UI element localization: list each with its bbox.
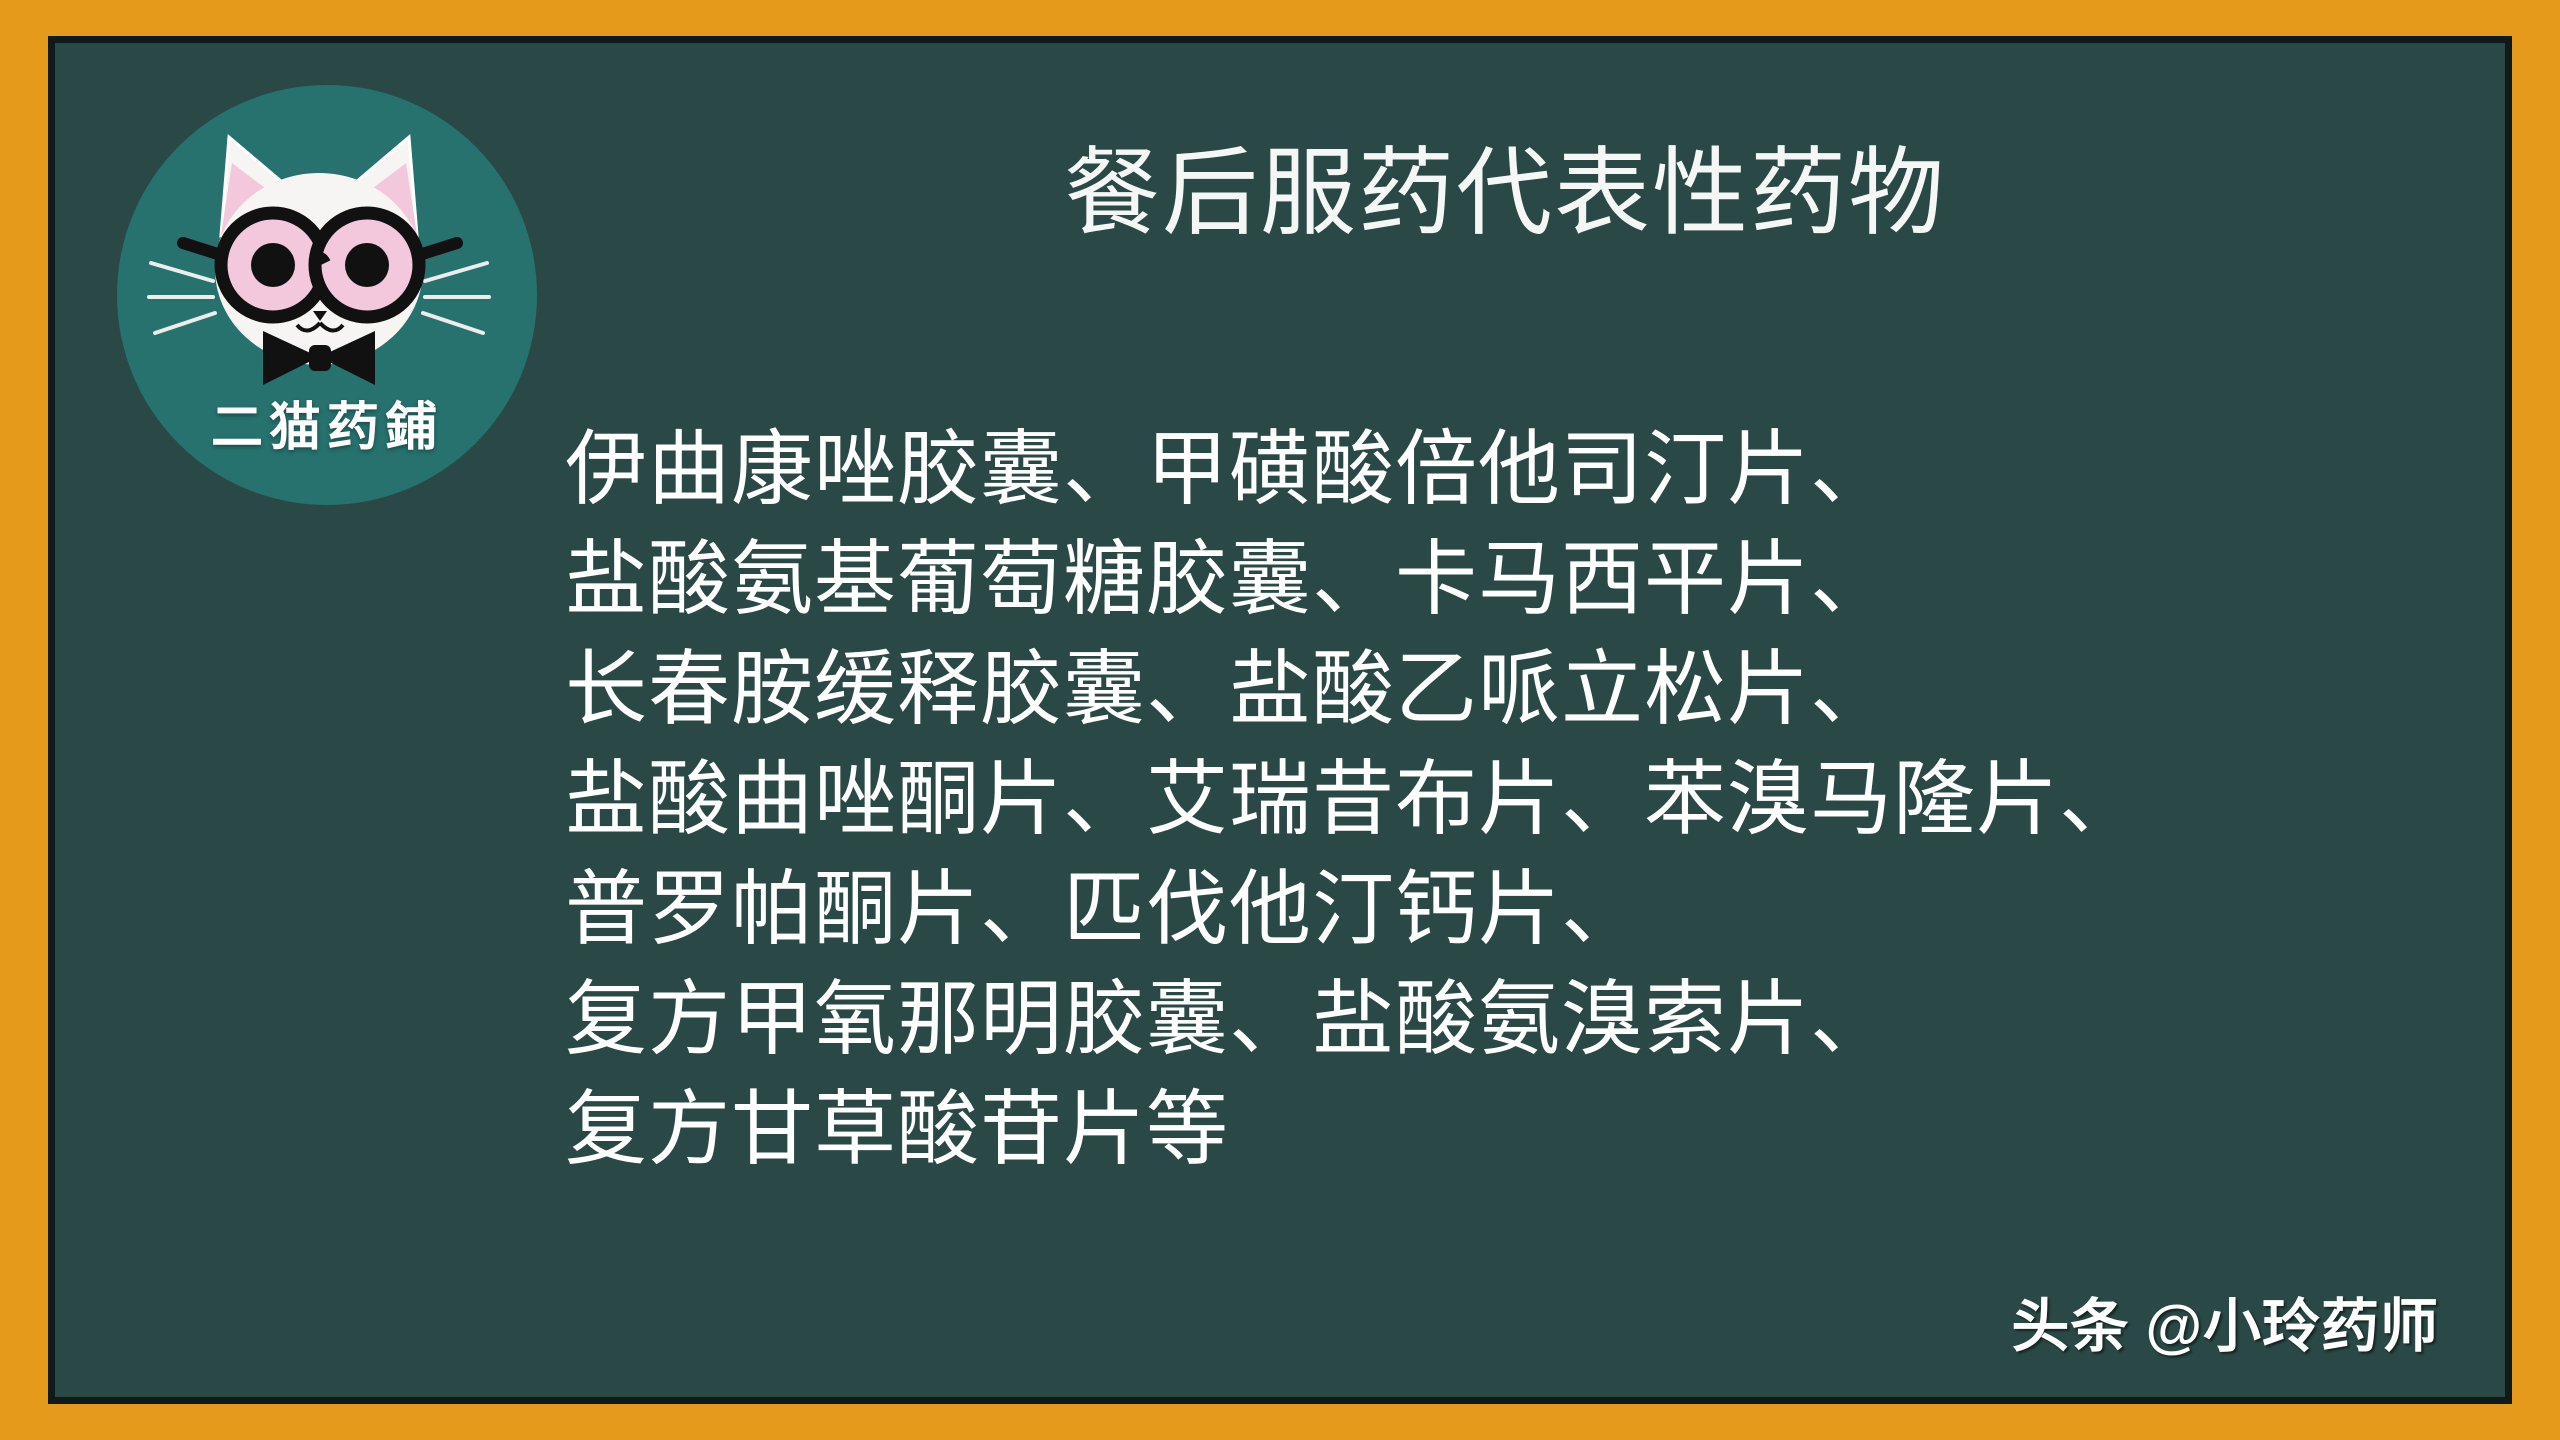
- drug-line: 长春胺缓释胶囊、盐酸乙哌立松片、: [565, 635, 2465, 745]
- brand-logo: 二猫药鋪: [117, 85, 537, 505]
- page-title: 餐后服药代表性药物: [615, 141, 2395, 247]
- watermark-handle: @小玲药师: [2145, 1279, 2439, 1363]
- drug-line: 复方甲氧那明胶囊、盐酸氨溴索片、: [565, 965, 2465, 1075]
- drug-line: 伊曲康唑胶囊、甲磺酸倍他司汀片、: [565, 415, 2465, 525]
- watermark-brand: 头条: [2011, 1279, 2129, 1363]
- drug-list: 伊曲康唑胶囊、甲磺酸倍他司汀片、 盐酸氨基葡萄糖胶囊、卡马西平片、 长春胺缓释胶…: [565, 415, 2465, 1185]
- drug-line: 盐酸氨基葡萄糖胶囊、卡马西平片、: [565, 525, 2465, 635]
- blackboard-panel: 二猫药鋪 餐后服药代表性药物 伊曲康唑胶囊、甲磺酸倍他司汀片、 盐酸氨基葡萄糖胶…: [48, 36, 2512, 1404]
- poster-root: 二猫药鋪 餐后服药代表性药物 伊曲康唑胶囊、甲磺酸倍他司汀片、 盐酸氨基葡萄糖胶…: [0, 0, 2560, 1440]
- watermark: 头条 @小玲药师: [2011, 1279, 2439, 1363]
- drug-line: 普罗帕酮片、匹伐他汀钙片、: [565, 855, 2465, 965]
- drug-line: 复方甘草酸苷片等: [565, 1075, 2465, 1185]
- logo-shop-name: 二猫药鋪: [117, 385, 537, 460]
- drug-line: 盐酸曲唑酮片、艾瑞昔布片、苯溴马隆片、: [565, 745, 2465, 855]
